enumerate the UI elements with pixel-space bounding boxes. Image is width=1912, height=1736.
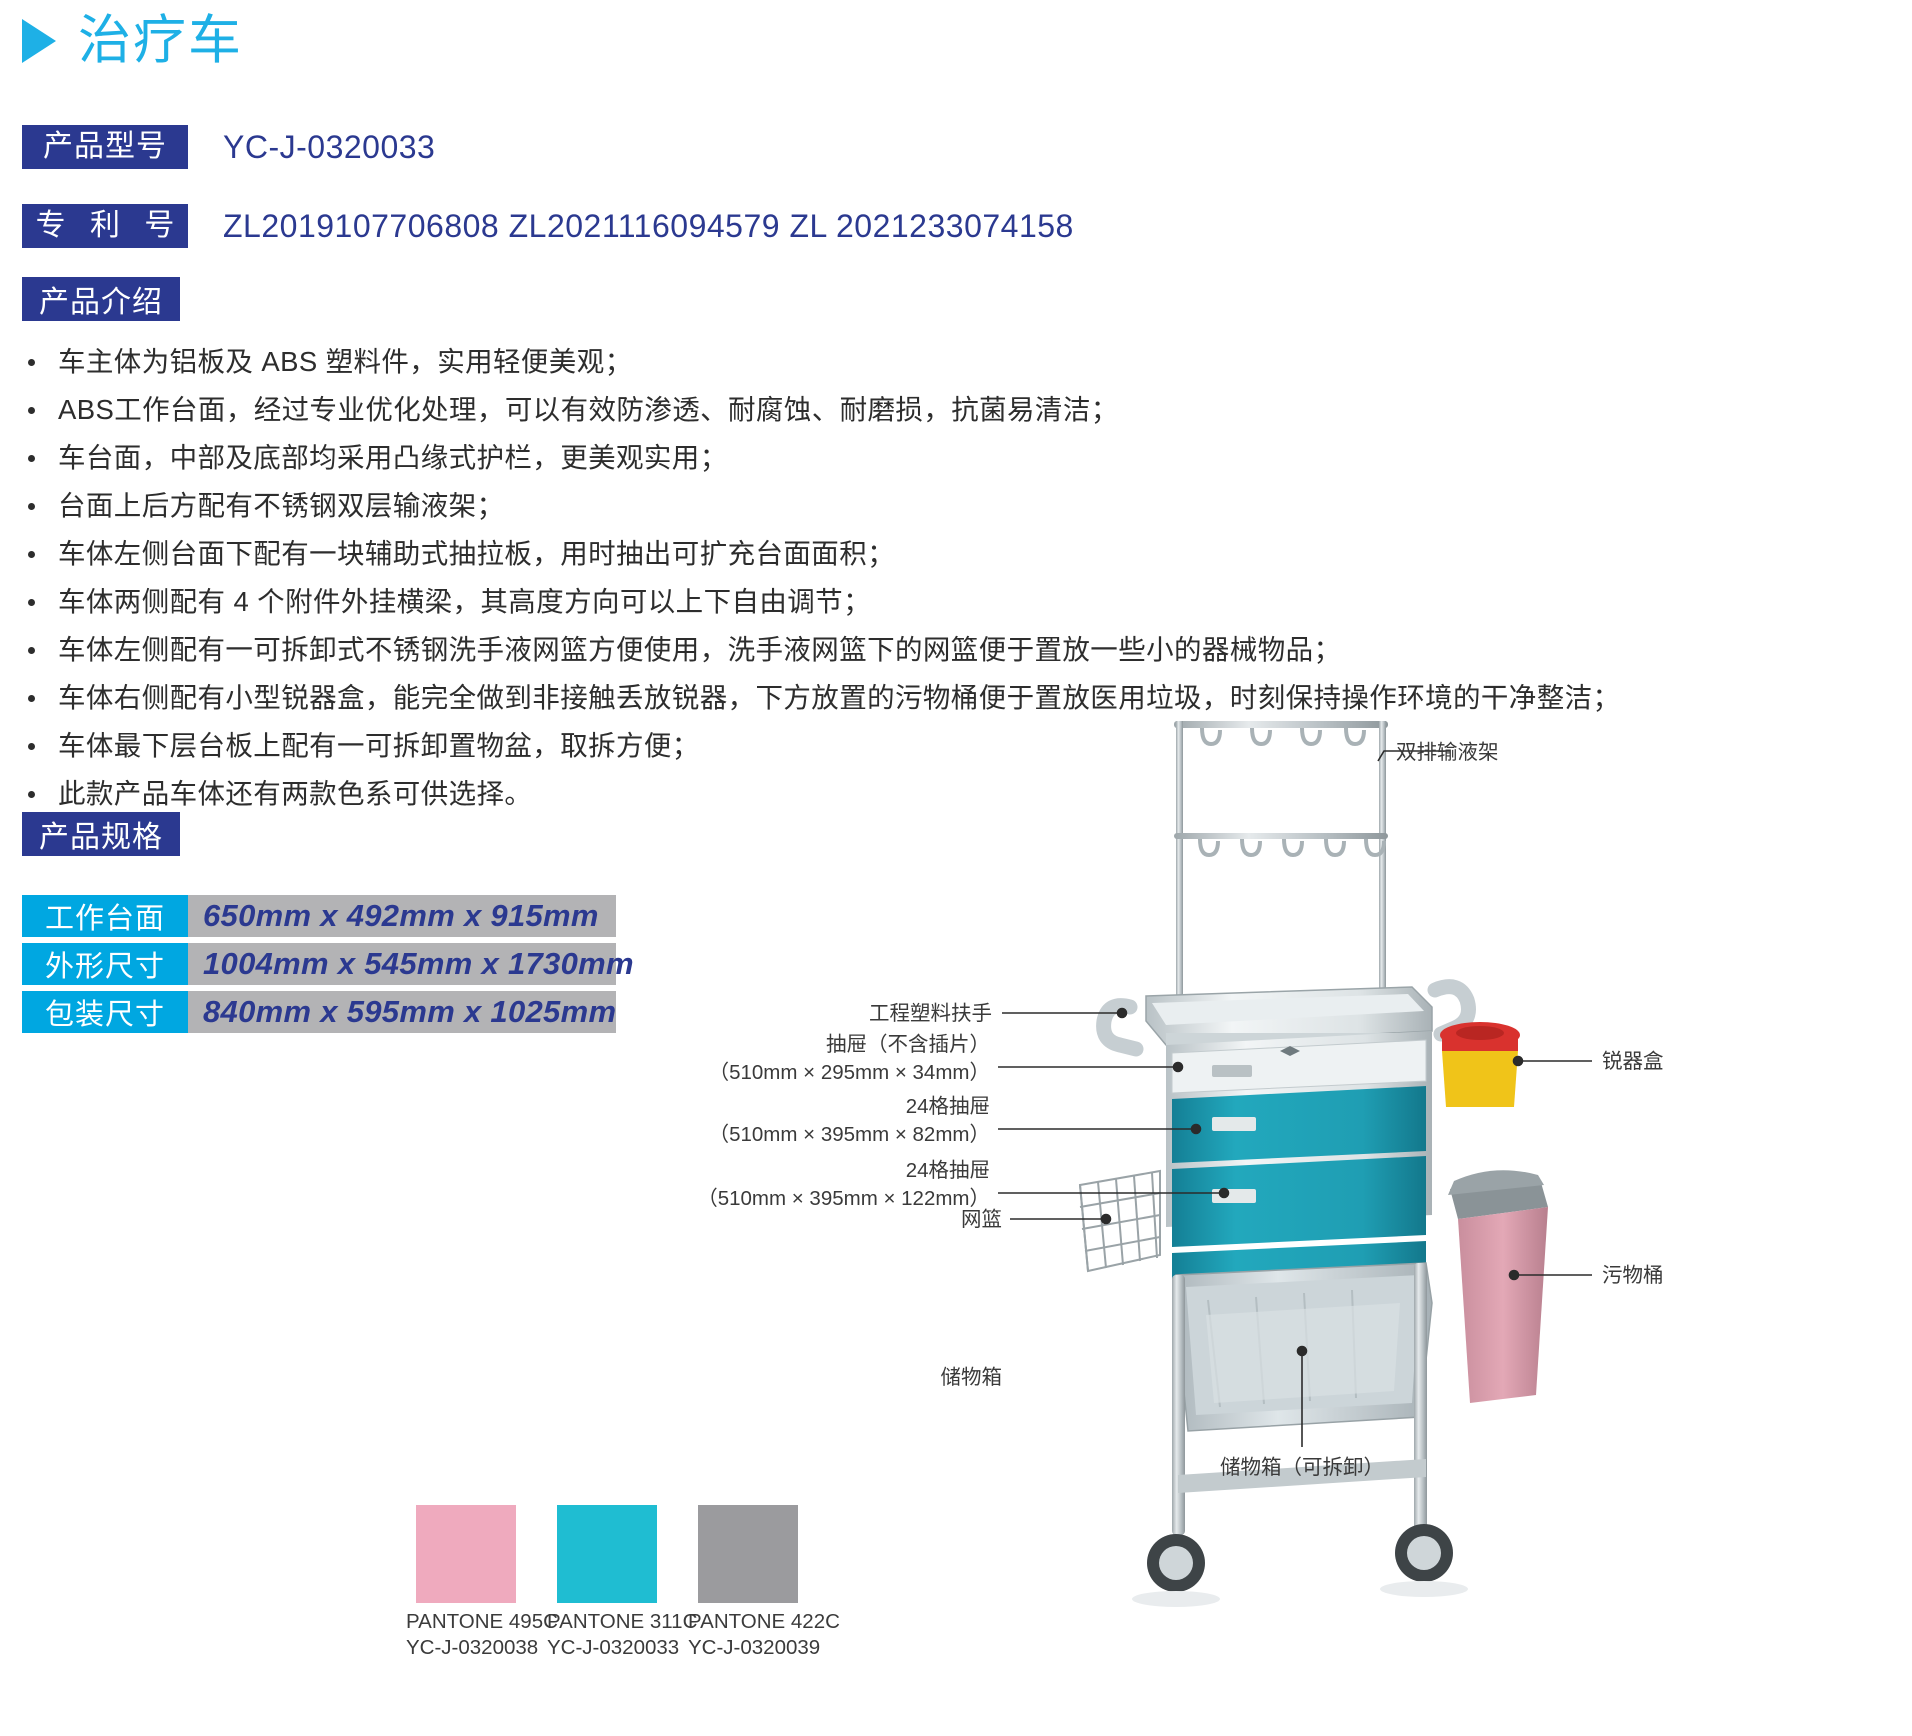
table-row: 工作台面 650mm x 492mm x 915mm <box>22 895 616 937</box>
callout-sharps-box: 锐器盒 <box>1602 1049 1664 1075</box>
page-header: 治疗车 <box>22 14 243 67</box>
callout-drawer-plain-name: 抽屉（不含插片） <box>742 1032 990 1058</box>
table-row: 外形尺寸 1004mm x 545mm x 1730mm <box>22 943 616 985</box>
swatch-item-422c: PANTONE 422C YC-J-0320039 <box>688 1505 808 1660</box>
color-swatch <box>698 1505 798 1603</box>
spec-label: 包装尺寸 <box>22 991 188 1033</box>
list-item: 车体左侧配有一可拆卸式不锈钢洗手液网篮方便使用，洗手液网篮下的网篮便于置放一些小… <box>14 636 1894 664</box>
product-model-row: 产品型号 YC-J-0320033 <box>22 125 435 169</box>
list-item: ABS工作台面，经过专业优化处理，可以有效防渗透、耐腐蚀、耐磨损，抗菌易清洁； <box>14 396 1894 424</box>
spec-table: 工作台面 650mm x 492mm x 915mm 外形尺寸 1004mm x… <box>22 895 616 1039</box>
cart-body-group <box>1166 1031 1432 1287</box>
patent-number-value: ZL2019107706808 ZL2021116094579 ZL 20212… <box>223 208 1074 245</box>
pantone-swatch-group: PANTONE 495C YC-J-0320038 PANTONE 311C Y… <box>406 1505 808 1660</box>
swatch-pantone-name: PANTONE 311C <box>547 1609 667 1635</box>
callout-drawer-plain-dims: （510mm × 295mm × 34mm） <box>680 1060 990 1086</box>
wire-basket-group <box>1080 1171 1160 1271</box>
callout-waste-bin: 污物桶 <box>1602 1263 1664 1289</box>
swatch-model-code: YC-J-0320038 <box>406 1635 526 1661</box>
color-swatch <box>416 1505 516 1603</box>
swatch-pantone-name: PANTONE 495C <box>406 1609 526 1635</box>
list-item: 车体两侧配有 4 个附件外挂横梁，其高度方向可以上下自由调节； <box>14 588 1894 616</box>
product-model-label: 产品型号 <box>22 125 188 169</box>
list-item: 车体右侧配有小型锐器盒，能完全做到非接触丢放锐器，下方放置的污物桶便于置放医用垃… <box>14 684 1894 712</box>
swatch-model-code: YC-J-0320033 <box>547 1635 667 1661</box>
callout-handrail: 工程塑料扶手 <box>830 1001 992 1027</box>
product-model-value: YC-J-0320033 <box>223 129 435 166</box>
page-title: 治疗车 <box>78 14 243 67</box>
swatch-item-311c: PANTONE 311C YC-J-0320033 <box>547 1505 667 1660</box>
cart-illustration <box>980 715 1912 1736</box>
spec-value: 650mm x 492mm x 915mm <box>188 895 616 937</box>
spec-value: 840mm x 595mm x 1025mm <box>188 991 616 1033</box>
callout-iv-pole: 双排输液架 <box>1396 740 1499 766</box>
list-item: 车体左侧台面下配有一块辅助式抽拉板，用时抽出可扩充台面面积； <box>14 540 1894 568</box>
callout-drawer-24a-dims: （510mm × 395mm × 82mm） <box>680 1122 990 1148</box>
product-diagram: 双排输液架 工程塑料扶手 抽屉（不含插片） （510mm × 295mm × 3… <box>980 715 1912 1736</box>
iv-pole-group <box>1174 721 1388 1001</box>
patent-number-label: 专 利 号 <box>22 204 188 248</box>
callout-drawer-24b-name: 24格抽屉 <box>810 1158 990 1184</box>
spec-value: 1004mm x 545mm x 1730mm <box>188 943 616 985</box>
callout-storage-box-side: 储物箱 <box>920 1365 1002 1391</box>
play-triangle-icon <box>22 19 56 63</box>
color-swatch <box>557 1505 657 1603</box>
spec-label: 外形尺寸 <box>22 943 188 985</box>
callout-storage-box: 储物箱（可拆卸） <box>1180 1455 1424 1481</box>
section-label-intro: 产品介绍 <box>22 277 180 321</box>
swatch-item-495c: PANTONE 495C YC-J-0320038 <box>406 1505 526 1660</box>
list-item: 车台面，中部及底部均采用凸缘式护栏，更美观实用； <box>14 444 1894 472</box>
section-label-spec: 产品规格 <box>22 812 180 856</box>
waste-bin-group <box>1448 1170 1548 1403</box>
spec-label: 工作台面 <box>22 895 188 937</box>
caster-wheels <box>1132 1524 1468 1607</box>
swatch-pantone-name: PANTONE 422C <box>688 1609 808 1635</box>
list-item: 车主体为铝板及 ABS 塑料件，实用轻便美观； <box>14 348 1894 376</box>
table-row: 包装尺寸 840mm x 595mm x 1025mm <box>22 991 616 1033</box>
swatch-model-code: YC-J-0320039 <box>688 1635 808 1661</box>
sharps-box-group <box>1440 1022 1520 1107</box>
callout-wire-basket: 网篮 <box>910 1207 1002 1233</box>
list-item: 台面上后方配有不锈钢双层输液架； <box>14 492 1894 520</box>
patent-number-row: 专 利 号 ZL2019107706808 ZL2021116094579 ZL… <box>22 204 1074 248</box>
callout-drawer-24a-name: 24格抽屉 <box>810 1094 990 1120</box>
